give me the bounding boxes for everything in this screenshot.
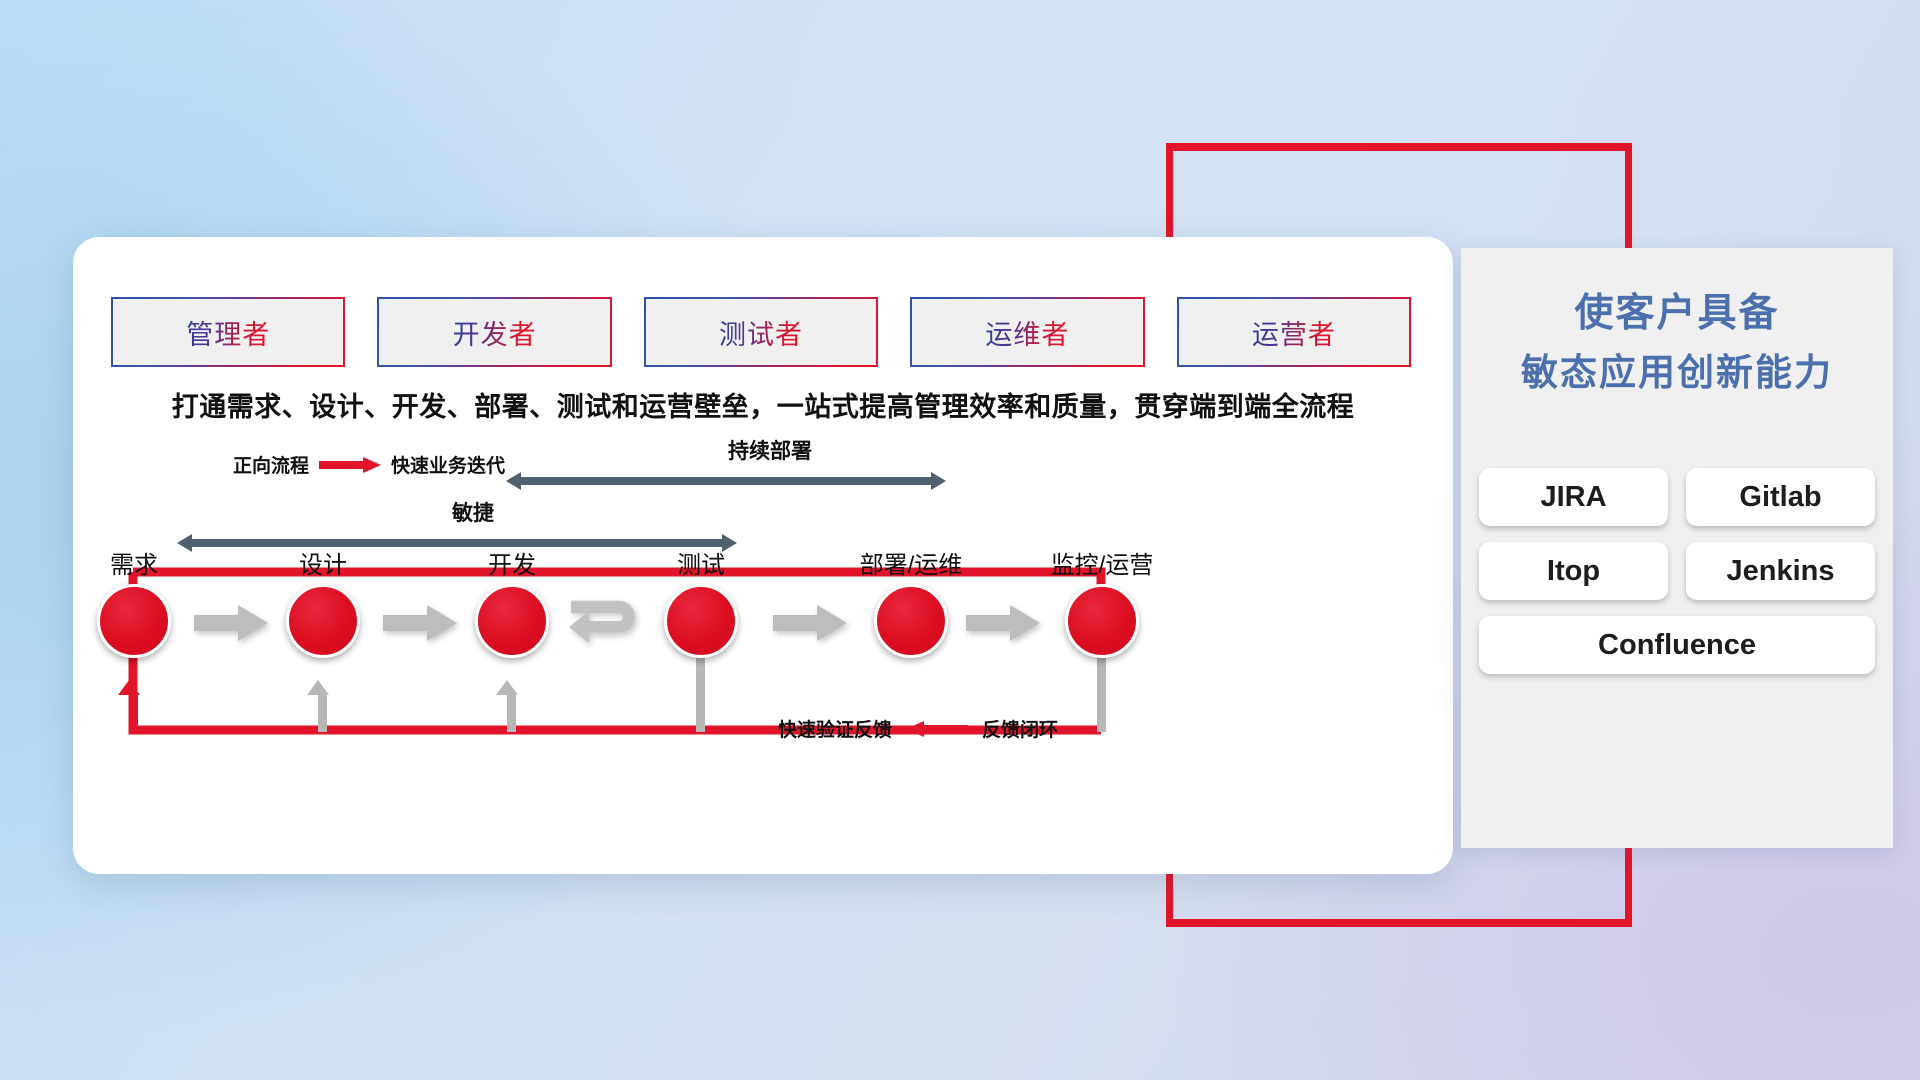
pipeline-node-deploy-ops[interactable]: 部署/运维 [874,584,948,658]
pipeline-node-label: 部署/运维 [860,545,963,580]
pipeline-node-test[interactable]: 测试 [664,584,738,658]
node-circle [475,584,549,658]
arrow-right-gray-icon [194,603,268,643]
stem-monitor [1097,657,1106,732]
toolchain-list: JIRA Gitlab Itop Jenkins Confluence [1479,468,1875,674]
tool-button-jira[interactable]: JIRA [1479,468,1668,526]
frame-bottom-line [1166,919,1632,927]
node-circle [286,584,360,658]
arrow-right-gray-icon [383,603,457,643]
tool-button-itop[interactable]: Itop [1479,542,1668,600]
loop-back-gray-icon [567,589,657,653]
arrow-right-gray-icon [966,603,1040,643]
pipeline-node-monitor-operate[interactable]: 监控/运营 [1065,584,1139,658]
panel-heading-line1: 使客户具备 [1574,292,1779,335]
pipeline-node-label: 开发 [488,545,536,580]
stem-head-develop [496,680,518,695]
pipeline-node-label: 设计 [299,545,347,580]
stem-head-design [307,680,329,695]
tool-button-confluence[interactable]: Confluence [1479,616,1875,674]
legend-feedback-left-label: 快速验证反馈 [778,715,892,742]
arrow-left-red-icon [906,721,968,737]
main-diagram-card: 管理者 开发者 测试者 运维者 运营者 打通需求、设计、开发、部署、测试和运营壁… [73,237,1453,874]
legend-feedback-right-label: 反馈闭环 [982,715,1058,742]
stem-head-requirement [118,680,140,695]
stem-design [318,692,327,732]
pipeline-node-label: 监控/运营 [1051,545,1154,580]
panel-heading: 使客户具备 敏态应用创新能力 [1461,284,1893,402]
pipeline-node-label: 需求 [110,545,158,580]
stem-requirement [129,692,138,732]
arrow-right-gray-icon [773,603,847,643]
legend-feedback-loop: 快速验证反馈 反馈闭环 [778,715,1058,742]
stem-develop [507,692,516,732]
node-circle [1065,584,1139,658]
panel-heading-line2: 敏态应用创新能力 [1461,344,1893,401]
node-circle [97,584,171,658]
node-circle [874,584,948,658]
node-circle [664,584,738,658]
pipeline-node-label: 测试 [677,545,725,580]
pipeline: 需求 设计 开发 测试 部署/运维 监控/运营 [73,237,1453,874]
capability-panel: 使客户具备 敏态应用创新能力 JIRA Gitlab Itop Jenkins … [1461,248,1893,848]
pipeline-node-design[interactable]: 设计 [286,584,360,658]
tool-button-jenkins[interactable]: Jenkins [1686,542,1875,600]
pipeline-node-develop[interactable]: 开发 [475,584,549,658]
frame-top-line [1166,143,1632,151]
pipeline-node-requirement[interactable]: 需求 [97,584,171,658]
diagram-stage: 管理者 开发者 测试者 运维者 运营者 打通需求、设计、开发、部署、测试和运营壁… [0,0,1920,1080]
tool-button-gitlab[interactable]: Gitlab [1686,468,1875,526]
stem-test [696,657,705,732]
